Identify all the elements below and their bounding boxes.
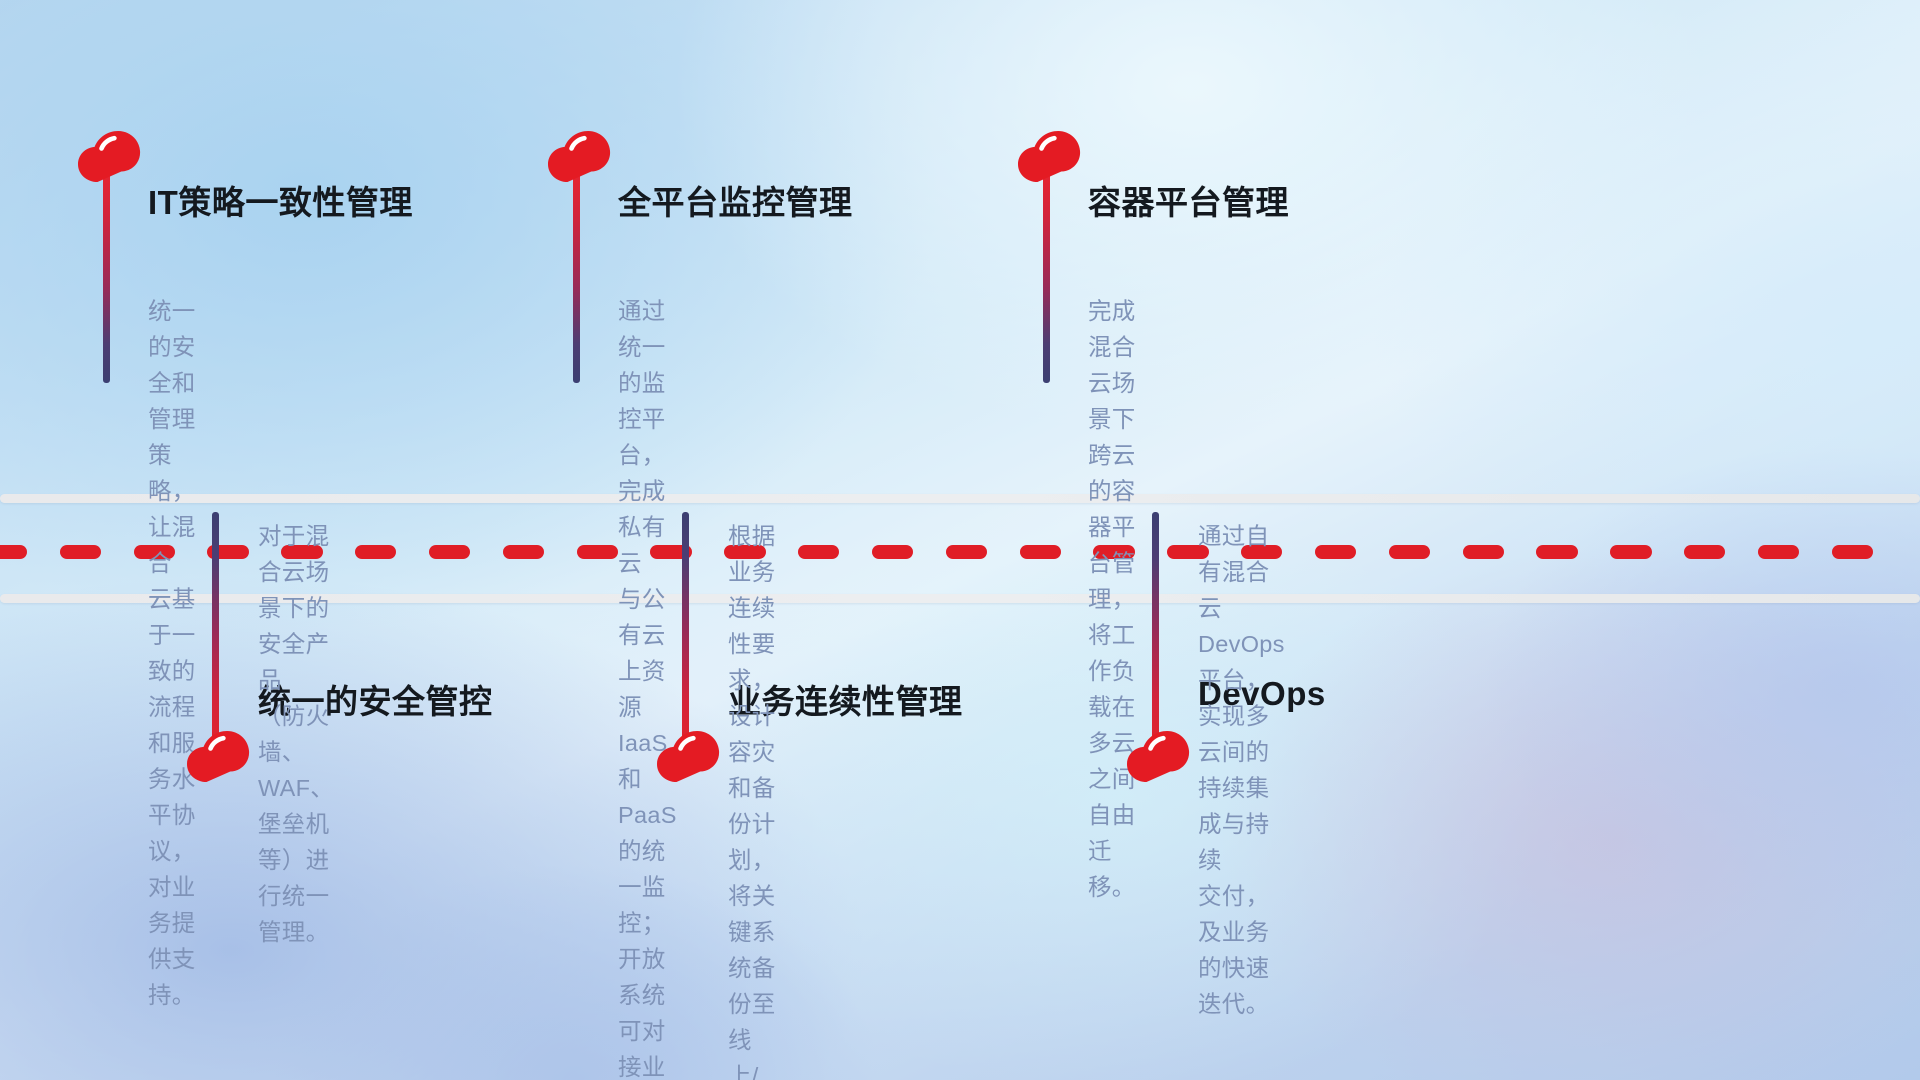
road-dash: [0, 545, 27, 559]
road-dash: [946, 545, 987, 559]
cloud-icon: [547, 131, 611, 183]
item-description: 对于混合云场景下的安全产品 （防火墙、WAF、堡垒机等）进 行统一管理。: [258, 518, 334, 950]
pin-stem: [682, 512, 689, 745]
item-title: 容器平台管理: [1088, 176, 1289, 224]
road-line-top: [0, 494, 1920, 503]
cloud-icon: [77, 131, 141, 183]
item-description: 统一的安全和管理策略，让混合 云基于一致的流程和服务水平协 议，对业务提供支持。: [148, 293, 196, 1013]
road-dash: [1610, 545, 1651, 559]
pin-stem: [1043, 168, 1050, 383]
road-dash: [1020, 545, 1061, 559]
road-dash: [798, 545, 839, 559]
cloud-icon: [1017, 131, 1081, 183]
item-description: 通过自有混合云DevOps平台， 实现多云间的持续集成与持续 交付，及业务的快速…: [1198, 518, 1285, 1022]
road-dash: [1315, 545, 1356, 559]
infographic-canvas: IT策略一致性管理统一的安全和管理策略，让混合 云基于一致的流程和服务水平协 议…: [0, 0, 1920, 1080]
cloud-icon: [186, 731, 250, 783]
road-dash: [429, 545, 470, 559]
road-dash: [1463, 545, 1504, 559]
road-dash: [503, 545, 544, 559]
item-title: IT策略一致性管理: [148, 176, 413, 224]
road-dash: [1536, 545, 1577, 559]
pin-stem: [1152, 512, 1159, 745]
road-dash: [577, 545, 618, 559]
road-dash: [1389, 545, 1430, 559]
road-dash: [60, 545, 101, 559]
road-dash: [1684, 545, 1725, 559]
pin-stem: [212, 512, 219, 745]
item-description: 完成混合云场景下跨云的容器平 台管理，将工作负载在多云之间 自由迁移。: [1088, 293, 1136, 905]
pin-stem: [103, 168, 110, 383]
item-title: 全平台监控管理: [618, 176, 853, 224]
item-description: 根据业务连续性要求，设计容灾 和备份计划，将关键系统备份至 线上/线下，并定期校…: [728, 518, 776, 1080]
item-description: 通过统一的监控平台，完成私有云 与公有云上资源IaaS和PaaS的统 一监控；开…: [618, 293, 677, 1080]
road-dash: [1832, 545, 1873, 559]
road-dash: [355, 545, 396, 559]
pin-stem: [573, 168, 580, 383]
road-dash: [1758, 545, 1799, 559]
cloud-icon: [1126, 731, 1190, 783]
road-dash: [872, 545, 913, 559]
cloud-icon: [656, 731, 720, 783]
